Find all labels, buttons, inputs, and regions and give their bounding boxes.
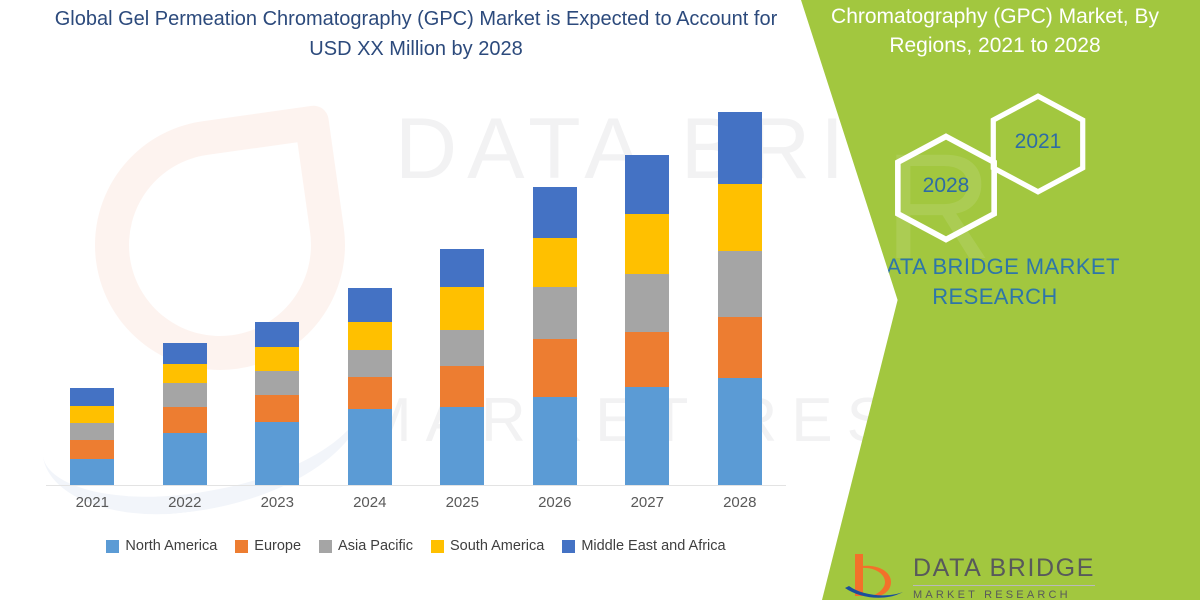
legend-swatch-icon	[235, 540, 248, 553]
bar-segment[interactable]	[70, 440, 114, 459]
legend-swatch-icon	[562, 540, 575, 553]
logo-title: DATA BRIDGE	[913, 554, 1095, 583]
logo-text: DATA BRIDGE MARKET RESEARCH	[913, 554, 1095, 600]
stacked-bar[interactable]	[440, 249, 484, 485]
bar-segment[interactable]	[255, 322, 299, 347]
infographic-root: DATA BRIDGE MARKET RESEARCH Global Gel P…	[0, 0, 1200, 600]
bar-segment[interactable]	[348, 322, 392, 350]
bar-column-2026[interactable]	[509, 97, 602, 485]
company-logo: DATA BRIDGE MARKET RESEARCH	[845, 552, 1175, 600]
x-axis-label-2023: 2023	[231, 494, 324, 511]
bar-segment[interactable]	[718, 317, 762, 378]
bar-segment[interactable]	[533, 397, 577, 485]
legend-label: Europe	[254, 538, 301, 554]
legend-item[interactable]: Asia Pacific	[319, 538, 413, 554]
stacked-bar[interactable]	[625, 155, 669, 485]
bar-segment[interactable]	[625, 274, 669, 332]
bar-segment[interactable]	[625, 332, 669, 387]
chart-title: Global Gel Permeation Chromatography (GP…	[46, 4, 786, 64]
legend-item[interactable]: Europe	[235, 538, 301, 554]
bar-segment[interactable]	[163, 433, 207, 485]
legend-swatch-icon	[319, 540, 332, 553]
x-axis-label-2028: 2028	[694, 494, 787, 511]
bar-segment[interactable]	[348, 288, 392, 322]
bar-segment[interactable]	[348, 350, 392, 377]
hexagon-badge-2021-label: 2021	[1015, 130, 1062, 154]
bar-segment[interactable]	[348, 377, 392, 409]
stacked-bar[interactable]	[163, 343, 207, 485]
bar-segment[interactable]	[255, 395, 299, 422]
chart-plot-area	[46, 96, 786, 486]
bar-column-2027[interactable]	[601, 97, 694, 485]
logo-subtitle: MARKET RESEARCH	[913, 585, 1095, 600]
bar-segment[interactable]	[255, 422, 299, 485]
bar-segment[interactable]	[440, 287, 484, 330]
bar-segment[interactable]	[440, 330, 484, 366]
bar-column-2028[interactable]	[694, 97, 787, 485]
bar-segment[interactable]	[440, 407, 484, 485]
x-axis-label-2027: 2027	[601, 494, 694, 511]
bar-segment[interactable]	[625, 155, 669, 214]
bar-segment[interactable]	[718, 184, 762, 251]
x-axis-labels: 20212022202320242025202620272028	[46, 494, 786, 511]
bar-column-2023[interactable]	[231, 97, 324, 485]
bar-segment[interactable]	[625, 387, 669, 485]
legend-item[interactable]: Middle East and Africa	[562, 538, 725, 554]
stacked-bar-group	[46, 97, 786, 485]
bar-segment[interactable]	[163, 407, 207, 433]
bar-segment[interactable]	[348, 409, 392, 485]
x-axis-label-2021: 2021	[46, 494, 139, 511]
data-bridge-b-icon	[845, 552, 903, 600]
bar-column-2021[interactable]	[46, 97, 139, 485]
bar-column-2025[interactable]	[416, 97, 509, 485]
hexagon-badge-2028: 2028	[890, 132, 1002, 240]
legend-label: North America	[125, 538, 217, 554]
bar-column-2022[interactable]	[139, 97, 232, 485]
x-axis-line	[46, 485, 786, 486]
bar-segment[interactable]	[70, 388, 114, 405]
stacked-bar[interactable]	[255, 322, 299, 485]
stacked-bar[interactable]	[70, 388, 114, 485]
x-axis-label-2025: 2025	[416, 494, 509, 511]
chart-legend: North AmericaEuropeAsia PacificSouth Ame…	[46, 538, 786, 554]
x-axis-label-2024: 2024	[324, 494, 417, 511]
legend-label: Middle East and Africa	[581, 538, 725, 554]
legend-item[interactable]: North America	[106, 538, 217, 554]
bar-segment[interactable]	[718, 251, 762, 318]
stacked-bar[interactable]	[533, 187, 577, 485]
x-axis-label-2022: 2022	[139, 494, 232, 511]
hexagon-badges: 2021 2028	[890, 92, 1090, 220]
bar-segment[interactable]	[163, 364, 207, 382]
bar-segment[interactable]	[70, 406, 114, 423]
legend-label: Asia Pacific	[338, 538, 413, 554]
hexagon-badge-2028-label: 2028	[923, 174, 970, 198]
bar-segment[interactable]	[440, 366, 484, 407]
bar-segment[interactable]	[255, 371, 299, 395]
green-side-panel: BR Chromatography (GPC) Market, By Regio…	[780, 0, 1200, 600]
bar-segment[interactable]	[533, 187, 577, 238]
legend-label: South America	[450, 538, 544, 554]
legend-swatch-icon	[431, 540, 444, 553]
bar-segment[interactable]	[533, 287, 577, 339]
bar-segment[interactable]	[163, 383, 207, 407]
panel-brand-text: DATA BRIDGE MARKET RESEARCH	[810, 252, 1180, 312]
legend-swatch-icon	[106, 540, 119, 553]
bar-segment[interactable]	[440, 249, 484, 287]
x-axis-label-2026: 2026	[509, 494, 602, 511]
stacked-bar[interactable]	[718, 112, 762, 485]
bar-column-2024[interactable]	[324, 97, 417, 485]
bar-segment[interactable]	[255, 347, 299, 371]
bar-segment[interactable]	[533, 339, 577, 397]
bar-segment[interactable]	[70, 423, 114, 440]
bar-segment[interactable]	[533, 238, 577, 287]
bar-segment[interactable]	[70, 459, 114, 485]
bar-segment[interactable]	[718, 112, 762, 184]
panel-title: Chromatography (GPC) Market, By Regions,…	[810, 2, 1180, 60]
bar-segment[interactable]	[718, 378, 762, 485]
bar-segment[interactable]	[625, 214, 669, 275]
stacked-bar[interactable]	[348, 288, 392, 485]
legend-item[interactable]: South America	[431, 538, 544, 554]
bar-segment[interactable]	[163, 343, 207, 364]
